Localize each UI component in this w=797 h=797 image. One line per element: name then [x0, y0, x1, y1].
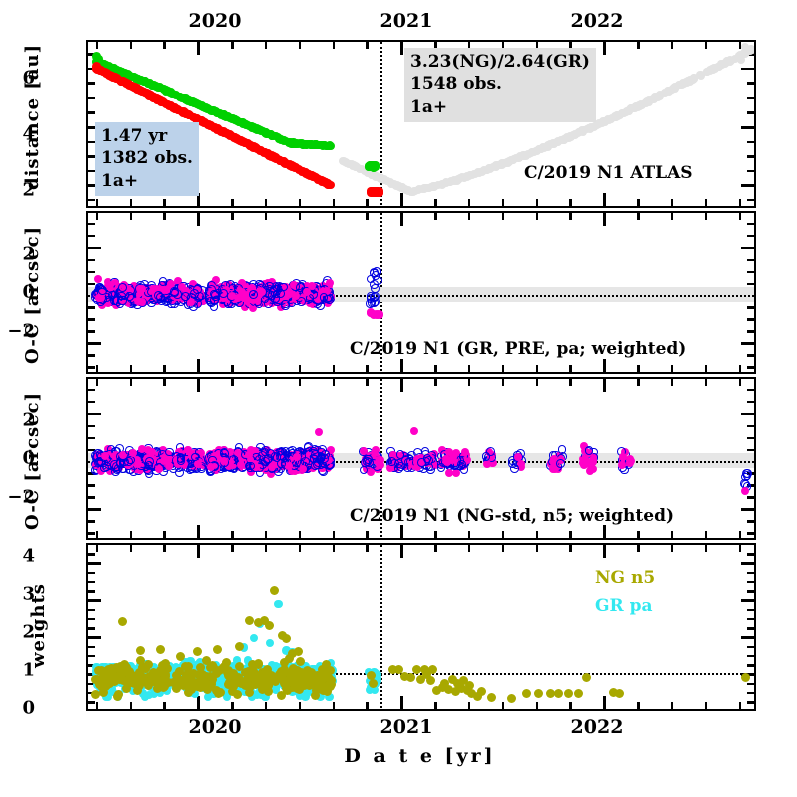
data-point [160, 457, 168, 465]
x-tick [299, 365, 302, 372]
ytick-distance-6: 6 [0, 68, 35, 89]
data-point [231, 116, 239, 124]
data-point [303, 140, 311, 148]
x-tick [637, 365, 640, 372]
y-tick [747, 223, 754, 226]
data-point [387, 457, 396, 466]
y-tick [747, 425, 754, 428]
x-tick [299, 42, 302, 49]
x-tick [96, 545, 99, 552]
y-tick [741, 247, 754, 250]
x-tick [739, 545, 742, 552]
x-tick [231, 702, 234, 709]
x-tick [400, 193, 403, 206]
x-tick [739, 702, 742, 709]
data-point [155, 465, 163, 473]
data-point [383, 177, 391, 185]
x-tick [197, 379, 200, 392]
x-tick [637, 702, 640, 709]
y-tick [747, 401, 754, 404]
y-tick [741, 562, 754, 565]
data-point [554, 138, 562, 146]
y-tick [747, 664, 754, 667]
x-tick [671, 213, 674, 220]
x-tick [569, 365, 572, 372]
y-tick [88, 271, 95, 274]
data-point [580, 461, 588, 469]
data-point [315, 428, 323, 436]
y-tick [747, 235, 754, 238]
x-tick [434, 531, 437, 538]
x-tick [536, 702, 539, 709]
ytick-distance-4: 4 [0, 124, 35, 145]
x-tick [536, 213, 539, 220]
x-tick [366, 213, 369, 220]
data-point [265, 282, 274, 291]
x-tick [163, 199, 166, 206]
y-tick [747, 581, 754, 584]
y-tick [88, 636, 101, 639]
x-tick [96, 531, 99, 538]
y-tick [747, 330, 754, 333]
data-point [721, 60, 729, 68]
y-tick [88, 318, 95, 321]
data-point [556, 459, 565, 468]
x-tick [536, 531, 539, 538]
x-tick [130, 199, 133, 206]
x-tick [163, 545, 166, 552]
x-tick [671, 199, 674, 206]
x-tick [468, 365, 471, 372]
data-point [125, 292, 134, 301]
x-tick [739, 199, 742, 206]
x-tick [96, 42, 99, 49]
data-point [394, 464, 403, 473]
x-tick [502, 365, 505, 372]
x-tick [434, 213, 437, 220]
data-point [264, 299, 273, 308]
x-tick [468, 545, 471, 552]
ytick-ocng-0: 0 [0, 448, 35, 469]
data-point [460, 465, 469, 474]
x-tick [671, 531, 674, 538]
y-tick [741, 184, 754, 187]
y-tick [747, 701, 754, 704]
x-tick [536, 545, 539, 552]
x-tick [637, 199, 640, 206]
x-tick [671, 379, 674, 386]
y-tick [747, 283, 754, 286]
x-tick [366, 545, 369, 552]
data-point [443, 458, 451, 466]
x-tick [299, 545, 302, 552]
data-point [301, 692, 309, 700]
data-point [558, 445, 567, 454]
y-tick [747, 437, 754, 440]
y-tick [747, 82, 754, 85]
data-point [250, 634, 258, 642]
x-tick [197, 525, 200, 538]
y-tick [88, 354, 95, 357]
x-tick [197, 213, 200, 226]
x-tick [231, 365, 234, 372]
data-point [261, 148, 269, 156]
x-tick [468, 379, 471, 386]
y-tick [747, 271, 754, 274]
x-tick [333, 379, 336, 386]
x-tick [536, 365, 539, 372]
y-tick [88, 437, 95, 440]
data-point [211, 291, 220, 300]
x-tick [163, 702, 166, 709]
x-tick [434, 199, 437, 206]
y-tick [88, 655, 95, 658]
data-point [665, 88, 673, 96]
panel-weights [86, 543, 756, 711]
data-point [530, 148, 538, 156]
x-tick [130, 213, 133, 220]
x-tick [333, 199, 336, 206]
x-tick [569, 531, 572, 538]
y-tick [741, 636, 754, 639]
y-tick [747, 627, 754, 630]
y-tick [747, 532, 754, 535]
data-point [510, 464, 519, 473]
data-point [141, 693, 149, 701]
y-tick [88, 599, 101, 602]
data-point [138, 445, 146, 453]
x-tick [400, 213, 403, 226]
data-point [264, 454, 273, 463]
x-tick [400, 42, 403, 55]
x-tick [400, 359, 403, 372]
x-tick [400, 379, 403, 392]
data-point [181, 292, 190, 301]
x-tick [468, 213, 471, 220]
data-point [281, 300, 290, 309]
x-tick [637, 531, 640, 538]
x-tick [96, 365, 99, 372]
y-tick [88, 532, 95, 535]
data-point [150, 93, 158, 101]
data-point [205, 105, 213, 113]
data-point [110, 73, 118, 81]
data-point [486, 165, 494, 173]
y-tick [88, 141, 95, 144]
y-tick [88, 508, 101, 511]
data-point [207, 463, 215, 471]
x-tick [333, 531, 336, 538]
x-tick [468, 199, 471, 206]
y-tick [747, 354, 754, 357]
x-tick [671, 42, 674, 49]
data-point [411, 187, 419, 195]
y-tick [88, 247, 101, 250]
data-point [106, 281, 114, 289]
x-tick [163, 365, 166, 372]
perihelion-marker-line [380, 545, 382, 708]
x-tick [299, 531, 302, 538]
y-tick [88, 235, 95, 238]
y-tick [747, 318, 754, 321]
x-tick [163, 42, 166, 49]
x-tick [265, 213, 268, 220]
x-tick [299, 379, 302, 386]
x-tick [163, 531, 166, 538]
x-tick [434, 545, 437, 552]
ytick-distance-2: 2 [0, 180, 35, 201]
y-tick [741, 599, 754, 602]
y-tick [747, 141, 754, 144]
ytick-ocgr-0: 0 [0, 282, 35, 303]
data-point [165, 448, 174, 457]
x-tick [637, 42, 640, 49]
data-point [98, 286, 107, 295]
x-tick [96, 199, 99, 206]
data-point [145, 457, 154, 466]
y-tick [747, 155, 754, 158]
x-tick [130, 531, 133, 538]
y-tick [747, 572, 754, 575]
y-tick [747, 590, 754, 593]
data-point [245, 451, 253, 459]
x-tick [739, 365, 742, 372]
x-tick [265, 545, 268, 552]
x-tick [603, 545, 606, 558]
y-tick [741, 413, 754, 416]
x-tick [366, 531, 369, 538]
x-tick [603, 359, 606, 372]
x-tick [671, 702, 674, 709]
x-tick [231, 199, 234, 206]
data-point [410, 427, 418, 435]
data-point [370, 268, 379, 277]
x-tick [299, 199, 302, 206]
top-xtick-2022: 2022 [571, 10, 624, 32]
y-tick [747, 111, 754, 114]
x-tick [197, 359, 200, 372]
y-tick [88, 199, 95, 202]
x-tick [231, 545, 234, 552]
y-tick [747, 692, 754, 695]
y-tick [741, 126, 754, 129]
data-point [372, 163, 380, 171]
y-tick [741, 342, 754, 345]
data-point [310, 173, 318, 181]
x-tick [299, 213, 302, 220]
x-tick [569, 702, 572, 709]
x-tick [231, 379, 234, 386]
y-tick [88, 366, 95, 369]
x-tick [536, 199, 539, 206]
x-tick [739, 379, 742, 386]
figure-canvas: 2020 2021 2022 distance [au] 6 4 2 O-C [… [0, 0, 797, 797]
data-point [272, 155, 280, 163]
y-tick [88, 581, 95, 584]
data-point [375, 311, 383, 319]
x-tick [130, 702, 133, 709]
x-tick [671, 365, 674, 372]
y-tick [88, 520, 95, 523]
y-tick [747, 170, 754, 173]
y-tick [88, 484, 95, 487]
x-tick [705, 545, 708, 552]
y-tick [747, 366, 754, 369]
x-tick [502, 199, 505, 206]
y-tick [88, 283, 95, 286]
y-tick [747, 683, 754, 686]
y-tick [747, 520, 754, 523]
x-tick [163, 379, 166, 386]
ytick-ocgr-m2: −2 [0, 321, 35, 342]
x-tick [333, 702, 336, 709]
data-point [299, 465, 307, 473]
x-tick [366, 702, 369, 709]
data-point [618, 109, 626, 117]
data-point [171, 104, 179, 112]
y-tick [88, 618, 95, 621]
x-tick [468, 702, 471, 709]
x-tick [96, 213, 99, 220]
x-tick [130, 545, 133, 552]
x-tick [502, 379, 505, 386]
x-tick [603, 193, 606, 206]
x-tick [366, 379, 369, 386]
x-tick [502, 531, 505, 538]
data-point [177, 456, 186, 465]
data-point [238, 288, 246, 296]
y-tick [88, 609, 95, 612]
y-tick [747, 97, 754, 100]
x-tick [637, 379, 640, 386]
x-tick [333, 545, 336, 552]
x-tick [739, 213, 742, 220]
x-tick [603, 213, 606, 226]
data-point [237, 461, 245, 469]
y-tick [88, 342, 101, 345]
y-tick [741, 68, 754, 71]
y-tick [88, 590, 95, 593]
x-tick [265, 702, 268, 709]
top-xtick-2021: 2021 [380, 10, 433, 32]
x-tick [705, 213, 708, 220]
ytick-ocng-m2: −2 [0, 487, 35, 508]
x-tick [130, 365, 133, 372]
x-tick [739, 531, 742, 538]
x-tick [468, 531, 471, 538]
x-tick [265, 42, 268, 49]
x-tick [637, 545, 640, 552]
data-point [598, 119, 606, 127]
x-tick [197, 545, 200, 558]
data-point [445, 469, 453, 477]
ytick-ocng-2: 2 [0, 410, 35, 431]
x-tick [366, 365, 369, 372]
data-point [155, 83, 163, 91]
y-tick [747, 306, 754, 309]
x-tick [569, 545, 572, 552]
y-tick [88, 627, 95, 630]
x-tick [333, 213, 336, 220]
y-tick [88, 553, 95, 556]
x-tick [603, 696, 606, 709]
y-tick [88, 572, 95, 575]
y-tick [747, 389, 754, 392]
data-point [628, 104, 636, 112]
x-tick [502, 545, 505, 552]
data-point [370, 187, 378, 195]
x-tick [333, 365, 336, 372]
x-tick [603, 379, 606, 392]
x-tick [265, 199, 268, 206]
y-tick [747, 199, 754, 202]
x-tick [705, 42, 708, 49]
x-tick [434, 365, 437, 372]
data-point [134, 460, 142, 468]
x-tick [502, 702, 505, 709]
y-tick [88, 413, 101, 416]
x-tick [197, 42, 200, 55]
data-point [246, 462, 255, 471]
y-tick [747, 646, 754, 649]
x-tick [603, 42, 606, 55]
data-point [287, 138, 295, 146]
x-tick [366, 42, 369, 49]
y-tick [88, 259, 95, 262]
data-point [293, 453, 301, 461]
y-tick [747, 655, 754, 658]
x-tick [96, 379, 99, 386]
y-tick [88, 170, 95, 173]
data-point [274, 600, 282, 608]
data-point [129, 449, 137, 457]
data-point [451, 177, 459, 185]
data-point [321, 450, 330, 459]
data-point [678, 81, 686, 89]
data-point [215, 126, 223, 134]
data-point [737, 56, 745, 64]
y-tick [88, 223, 95, 226]
y-tick [88, 330, 95, 333]
y-tick [747, 259, 754, 262]
y-tick [88, 401, 95, 404]
x-tick [231, 213, 234, 220]
x-tick [96, 702, 99, 709]
y-tick [88, 306, 95, 309]
ytick-ocgr-2: 2 [0, 244, 35, 265]
data-point [249, 290, 258, 299]
y-tick [88, 496, 95, 499]
x-tick [569, 379, 572, 386]
y-tick [741, 508, 754, 511]
top-xtick-2020: 2020 [189, 10, 242, 32]
y-tick [747, 449, 754, 452]
x-tick [265, 531, 268, 538]
x-tick [434, 379, 437, 386]
data-point [170, 287, 179, 296]
y-tick [747, 609, 754, 612]
data-point [175, 468, 184, 477]
data-point [131, 84, 139, 92]
x-tick [333, 42, 336, 49]
x-tick [231, 42, 234, 49]
x-tick [502, 213, 505, 220]
y-tick [88, 389, 95, 392]
data-point [743, 469, 752, 478]
data-point [138, 298, 146, 306]
x-tick [400, 696, 403, 709]
x-tick [299, 702, 302, 709]
